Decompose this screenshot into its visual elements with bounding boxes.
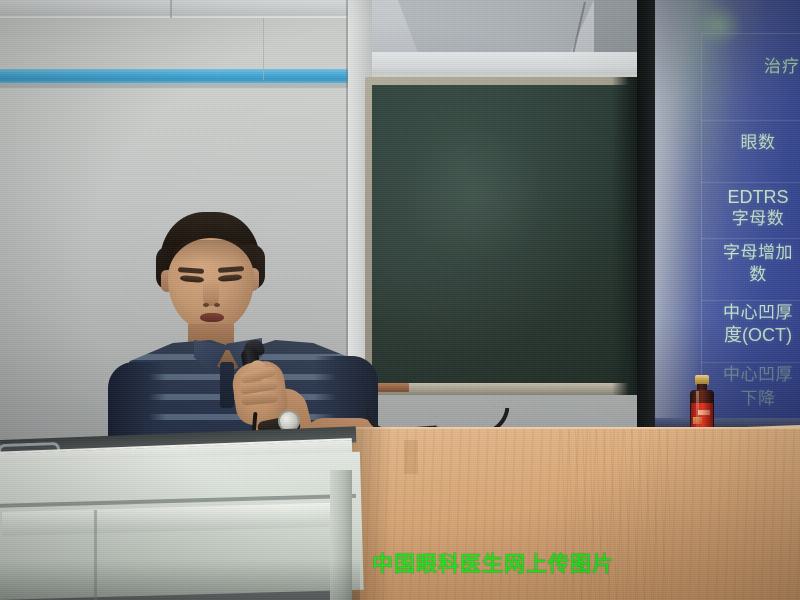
floor-shadow <box>0 560 360 600</box>
bottle-label <box>691 403 713 429</box>
nostril-left <box>203 303 209 307</box>
wall-blue-stripe <box>0 69 356 83</box>
bottle-label-text-mark <box>698 410 710 415</box>
counter-panel-seam <box>404 440 418 474</box>
blackboard-side-shadow <box>612 77 640 395</box>
wall-hairline <box>263 18 264 80</box>
watermark-text: 中国眼科医生网上传图片 <box>372 548 614 578</box>
blackboard-surface <box>372 85 634 383</box>
ceiling-grid-line <box>170 0 172 18</box>
lecture-photograph: 治疗 眼数 2 EDTRS 字母数 3 字母增加 数 中心凹厚 度(OCT) 2… <box>0 0 800 600</box>
projection-screen: 治疗 眼数 2 EDTRS 字母数 3 字母增加 数 中心凹厚 度(OCT) 2… <box>655 0 800 440</box>
chalk-eraser <box>375 383 409 392</box>
soffit-lip <box>372 52 662 74</box>
soffit-recess-panel <box>398 0 594 52</box>
blackboard-chalk-smudge <box>403 127 547 264</box>
blackboard <box>365 77 640 395</box>
wall-stripe-shadow <box>0 83 356 88</box>
nostril-right <box>214 303 220 307</box>
forehead-shading <box>170 240 252 264</box>
mouth <box>200 313 224 322</box>
screen-vignette <box>655 0 800 440</box>
wall-dark-column <box>637 0 657 442</box>
